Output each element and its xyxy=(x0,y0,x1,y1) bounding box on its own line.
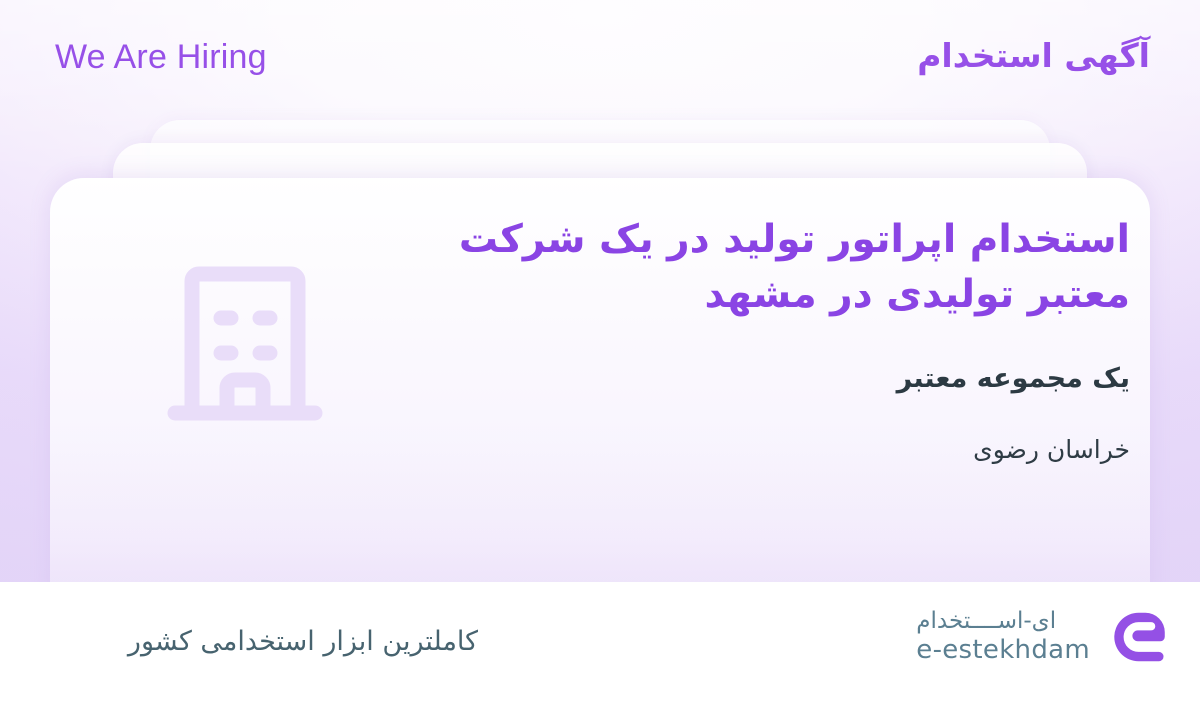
company-logo-placeholder xyxy=(150,256,340,456)
brand-text: ای-اســــتخدام e-estekhdam xyxy=(916,608,1090,666)
footer-tagline: کاملترین ابزار استخدامی کشور xyxy=(128,626,478,657)
poster-footer: کاملترین ابزار استخدامی کشور ای-اســــتخ… xyxy=(0,582,1200,705)
brand-name-persian: ای-اســــتخدام xyxy=(916,608,1090,635)
company-name: یک مجموعه معتبر xyxy=(370,361,1130,396)
e-logo-icon xyxy=(1108,606,1170,668)
brand-name-english: e-estekhdam xyxy=(916,635,1090,666)
job-title: استخدام اپراتور تولید در یک شرکت معتبر ت… xyxy=(370,212,1130,323)
header-persian-label: آگهی استخدام xyxy=(917,36,1150,75)
office-building-icon xyxy=(165,256,325,426)
job-card-content: استخدام اپراتور تولید در یک شرکت معتبر ت… xyxy=(50,178,1150,598)
job-ad-poster: We Are Hiring آگهی استخدام استخدام اپرات… xyxy=(0,0,1200,705)
brand-lockup: ای-اســــتخدام e-estekhdam xyxy=(916,606,1170,668)
header-english-label: We Are Hiring xyxy=(55,38,267,77)
poster-header: We Are Hiring آگهی استخدام xyxy=(0,0,1200,120)
job-location: خراسان رضوی xyxy=(370,434,1130,467)
job-details: استخدام اپراتور تولید در یک شرکت معتبر ت… xyxy=(370,198,1130,466)
